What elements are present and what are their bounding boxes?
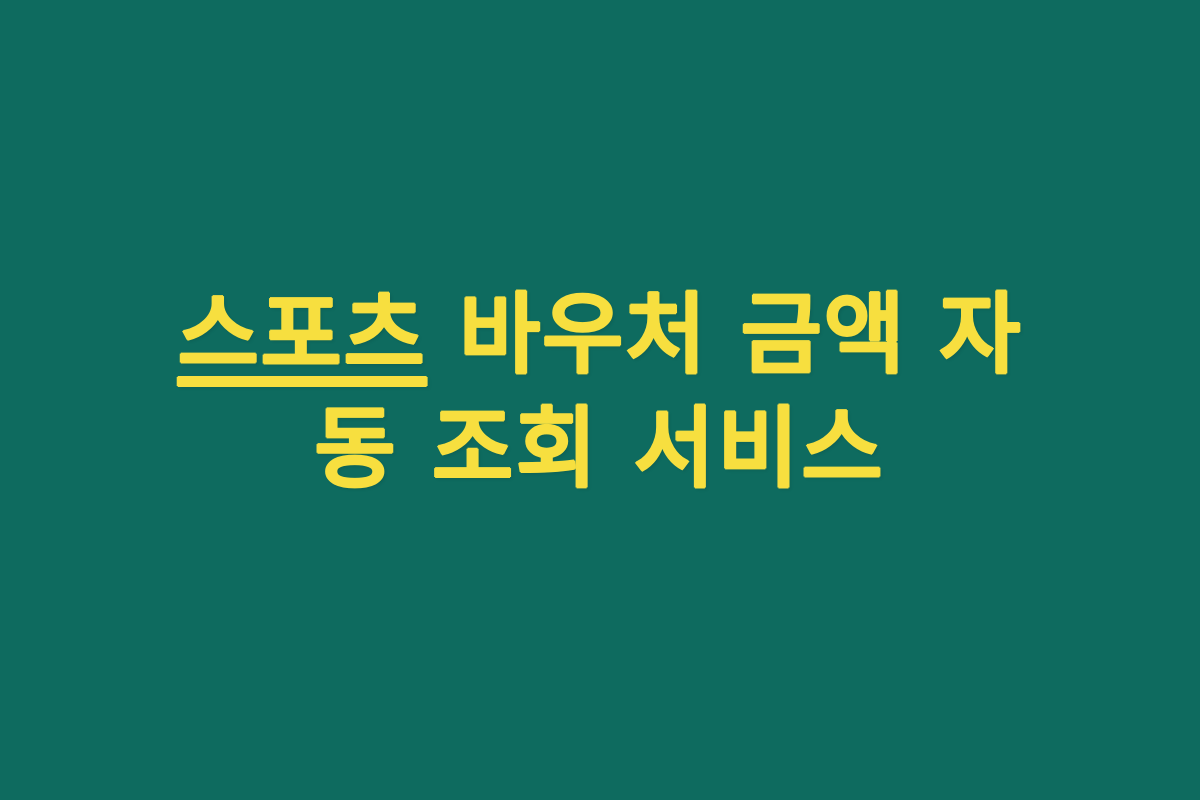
title-underlined-keyword: 스포츠 <box>178 283 427 386</box>
title-line-2: 동 조회 서비스 <box>95 392 1105 506</box>
page-title: 스포츠 바우처 금액 자 동 조회 서비스 <box>95 278 1105 507</box>
title-line-1: 스포츠 바우처 금액 자 <box>95 278 1105 392</box>
title-line-1-remainder: 바우처 금액 자 <box>427 283 1023 386</box>
banner-background: 스포츠 바우처 금액 자 동 조회 서비스 <box>0 0 1200 800</box>
